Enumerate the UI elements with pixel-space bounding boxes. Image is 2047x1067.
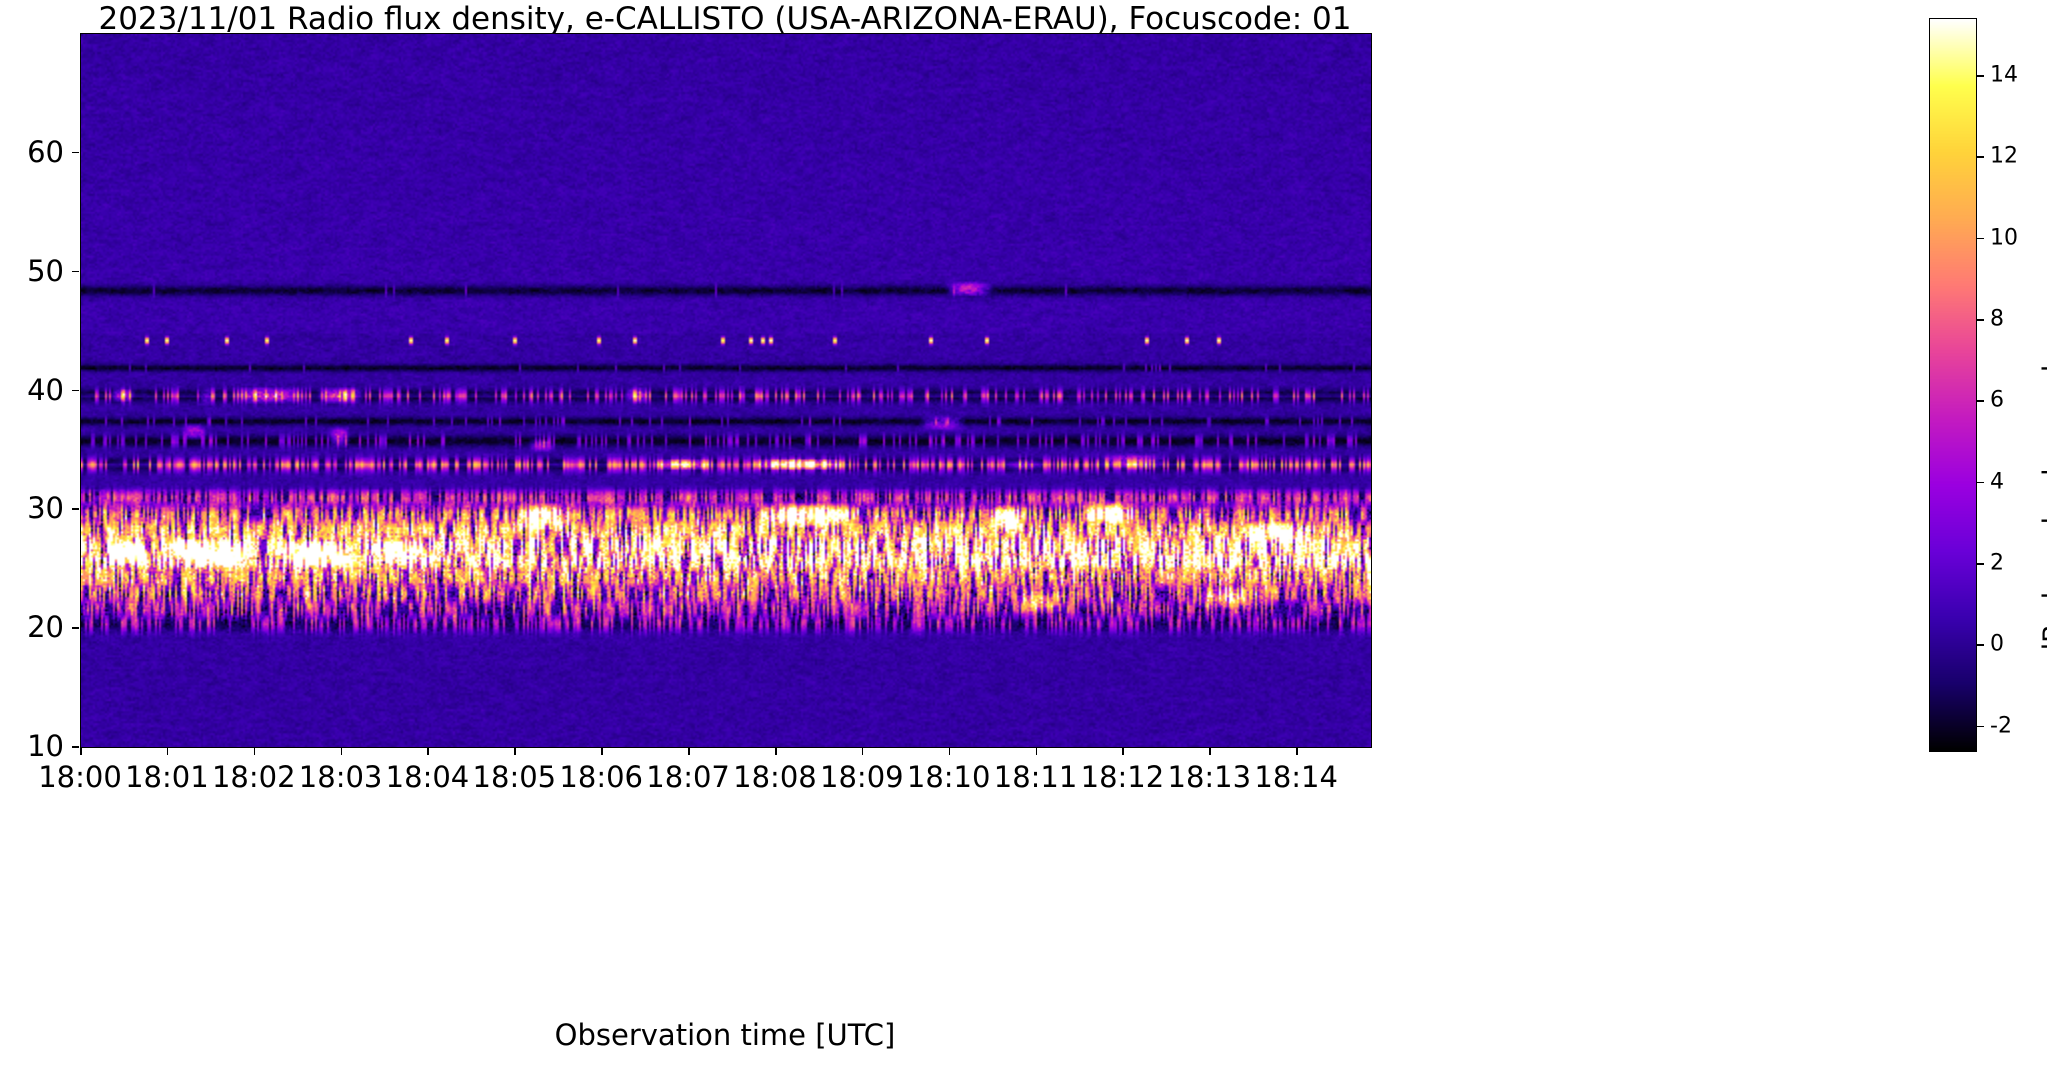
x-tick-label: 18:07 xyxy=(646,760,730,794)
x-tick-mark xyxy=(167,748,169,755)
colorbar-tick-label: 0 xyxy=(1990,632,2004,657)
colorbar-tick-mark xyxy=(1977,563,1984,565)
x-tick-mark xyxy=(1122,748,1124,755)
y-tick-mark xyxy=(72,390,79,392)
x-tick-mark xyxy=(341,748,343,755)
x-tick-label: 18:13 xyxy=(1167,760,1251,794)
x-tick-label: 18:00 xyxy=(38,760,122,794)
x-tick-label: 18:14 xyxy=(1254,760,1338,794)
colorbar[interactable] xyxy=(1929,18,1977,752)
x-tick-mark xyxy=(949,748,951,755)
figure-root: 2023/11/01 Radio flux density, e-CALLIST… xyxy=(0,0,2047,1067)
colorbar-tick-label: 6 xyxy=(1990,388,2004,413)
x-tick-label: 18:01 xyxy=(125,760,209,794)
colorbar-tick-mark xyxy=(1977,644,1984,646)
y-tick-label: 60 xyxy=(0,135,64,169)
colorbar-tick-mark xyxy=(1977,400,1984,402)
x-tick-label: 18:12 xyxy=(1081,760,1165,794)
x-tick-mark xyxy=(1296,748,1298,755)
y-tick-mark xyxy=(72,746,79,748)
y-tick-label: 20 xyxy=(0,610,64,644)
x-tick-mark xyxy=(1036,748,1038,755)
y-tick-mark xyxy=(72,152,79,154)
y-tick-mark xyxy=(72,271,79,273)
spectrogram-image xyxy=(81,34,1371,747)
x-tick-label: 18:09 xyxy=(820,760,904,794)
x-tick-label: 18:05 xyxy=(473,760,557,794)
x-tick-mark xyxy=(688,748,690,755)
x-tick-label: 18:06 xyxy=(559,760,643,794)
colorbar-tick-label: 8 xyxy=(1990,306,2004,331)
x-tick-mark xyxy=(775,748,777,755)
colorbar-tick-label: 4 xyxy=(1990,469,2004,494)
x-tick-label: 18:03 xyxy=(299,760,383,794)
colorbar-tick-label: 2 xyxy=(1990,550,2004,575)
colorbar-tick-mark xyxy=(1977,156,1984,158)
page-title: 2023/11/01 Radio flux density, e-CALLIST… xyxy=(80,4,1370,35)
colorbar-tick-label: 12 xyxy=(1990,144,2018,169)
colorbar-gradient xyxy=(1930,19,1976,751)
colorbar-tick-mark xyxy=(1977,482,1984,484)
x-tick-label: 18:08 xyxy=(733,760,817,794)
colorbar-tick-mark xyxy=(1977,319,1984,321)
colorbar-tick-label: 10 xyxy=(1990,225,2018,250)
x-tick-label: 18:11 xyxy=(994,760,1078,794)
x-tick-label: 18:10 xyxy=(907,760,991,794)
colorbar-tick-mark xyxy=(1977,75,1984,77)
colorbar-tick-label: -2 xyxy=(1990,713,2012,738)
x-axis-label: Observation time [UTC] xyxy=(80,1018,1370,1052)
x-tick-mark xyxy=(427,748,429,755)
colorbar-label: dB above background xyxy=(2038,365,2047,660)
x-tick-mark xyxy=(601,748,603,755)
x-tick-mark xyxy=(1209,748,1211,755)
colorbar-tick-mark xyxy=(1977,238,1984,240)
x-tick-mark xyxy=(254,748,256,755)
y-tick-label: 10 xyxy=(0,729,64,763)
y-tick-label: 30 xyxy=(0,491,64,525)
x-tick-mark xyxy=(862,748,864,755)
colorbar-tick-label: 14 xyxy=(1990,62,2018,87)
x-tick-mark xyxy=(514,748,516,755)
y-tick-mark xyxy=(72,627,79,629)
y-tick-label: 40 xyxy=(0,373,64,407)
colorbar-tick-mark xyxy=(1977,726,1984,728)
y-tick-mark xyxy=(72,508,79,510)
y-tick-label: 50 xyxy=(0,254,64,288)
x-tick-mark xyxy=(80,748,82,755)
spectrogram-plot-area[interactable] xyxy=(80,33,1372,748)
x-tick-label: 18:02 xyxy=(212,760,296,794)
x-tick-label: 18:04 xyxy=(386,760,470,794)
